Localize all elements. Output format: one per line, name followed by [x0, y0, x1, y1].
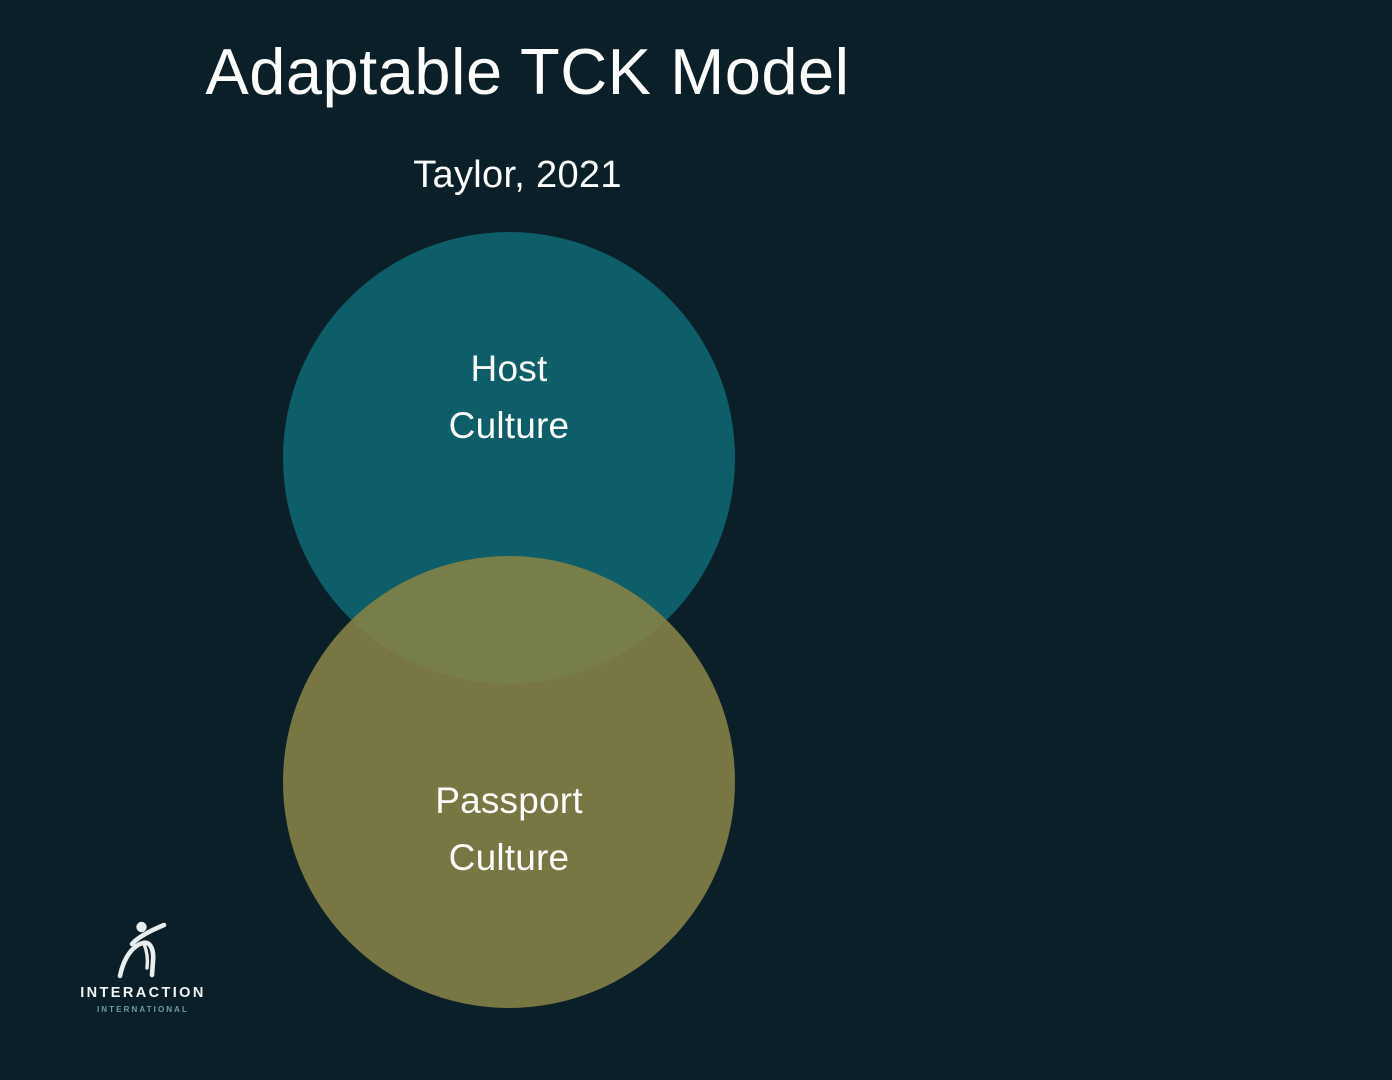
page-subtitle: Taylor, 2021 — [0, 155, 1035, 197]
venn-circle-passport-culture — [283, 556, 735, 1008]
running-figure-icon — [108, 918, 176, 980]
logo-tagline: INTERNATIONAL — [78, 1006, 208, 1014]
logo: INTERACTION INTERNATIONAL — [78, 918, 208, 1026]
logo-wordmark: INTERACTION — [78, 986, 208, 1001]
venn-diagram: Host Culture Passport Culture — [283, 232, 735, 1008]
slide-canvas: Adaptable TCK Model Taylor, 2021 Host Cu… — [0, 0, 1392, 1080]
page-title: Adaptable TCK Model — [0, 36, 1055, 108]
